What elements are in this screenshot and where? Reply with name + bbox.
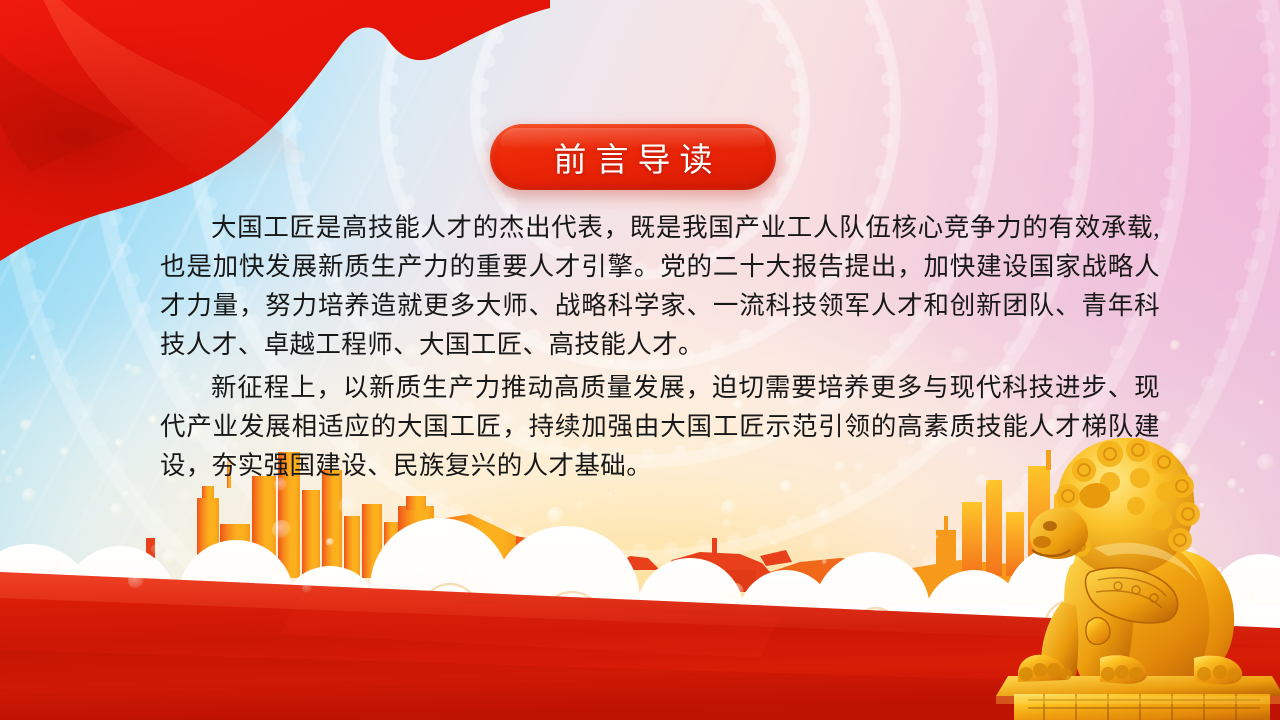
ray-scallop — [1263, 103, 1277, 117]
ray-scallop — [1256, 9, 1270, 23]
body-text-block: 大国工匠是高技能人才的杰出代表，既是我国产业工人队伍核心竞争力的有效承载,也是加… — [160, 208, 1160, 485]
ray-scallop — [1201, 376, 1215, 390]
paragraph-1: 大国工匠是高技能人才的杰出代表，既是我国产业工人队伍核心竞争力的有效承载,也是加… — [160, 208, 1160, 364]
paragraph-2: 新征程上，以新质生产力推动高质量发展，迫切需要培养更多与现代科技进步、现代产业发… — [160, 368, 1160, 485]
presentation-slide: 前言导读 大国工匠是高技能人才的杰出代表，既是我国产业工人队伍核心竞争力的有效承… — [0, 0, 1280, 720]
ray-scallop — [1235, 289, 1249, 303]
ray-scallop — [1262, 72, 1276, 86]
ray-scallop — [1260, 166, 1274, 180]
section-title-badge[interactable]: 前言导读 — [490, 124, 776, 190]
section-title-text: 前言导读 — [545, 133, 722, 181]
ray-scallop — [1251, 228, 1265, 242]
ray-scallop — [1244, 258, 1258, 272]
ray-scallop — [1214, 348, 1228, 362]
ray-scallop — [1256, 197, 1270, 211]
